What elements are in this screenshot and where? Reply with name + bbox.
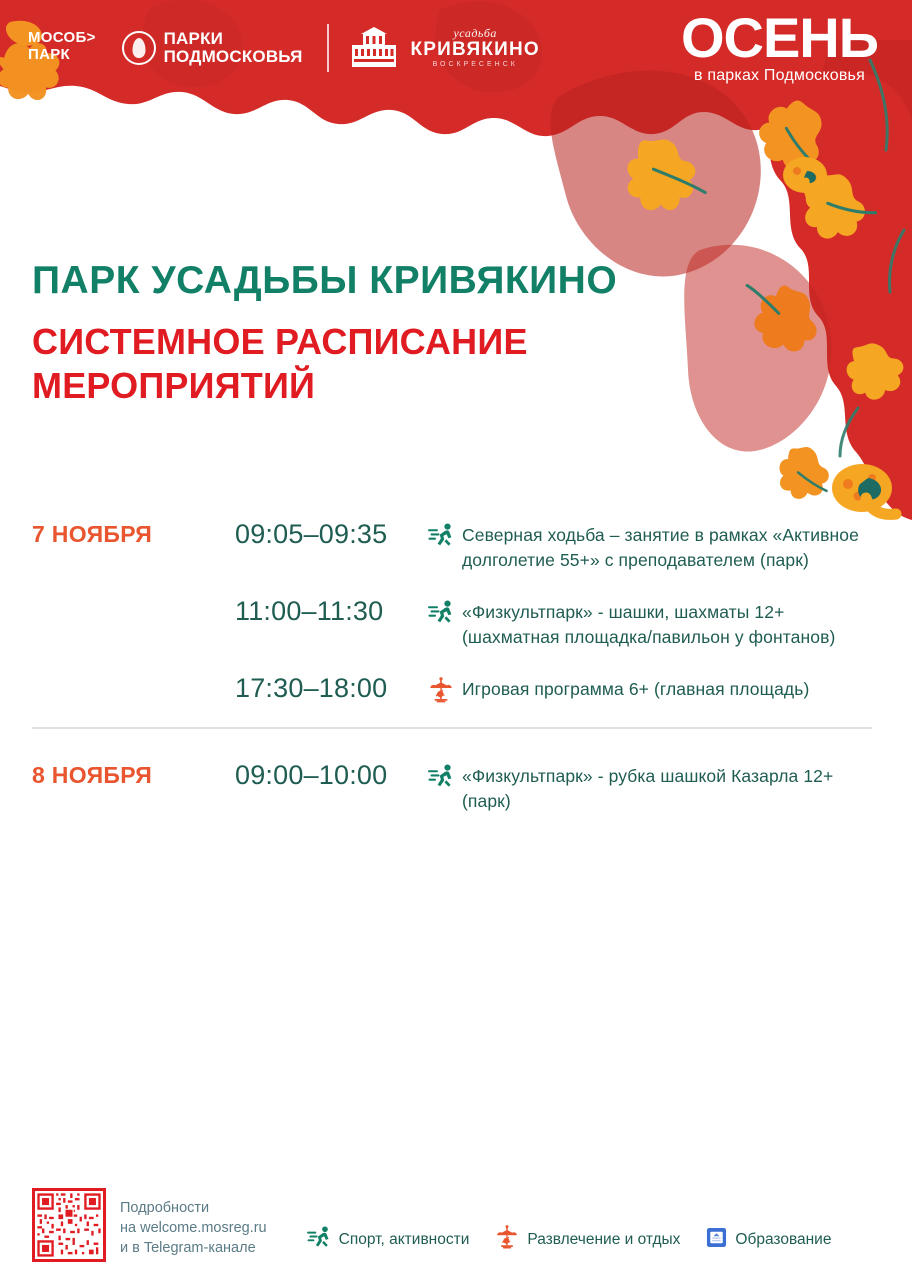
- osen-word-label: ОСЕНЬ: [681, 8, 878, 68]
- qr-code[interactable]: [32, 1188, 106, 1262]
- poster-header: МОСОБ> ПАРК ПАРКИ ПОДМОСКОВЬЯ: [0, 0, 912, 96]
- poster-footer: Подробности на welcome.mosreg.ru и в Tel…: [32, 1188, 882, 1262]
- day-divider: [32, 727, 872, 729]
- day-date-label: 8 НОЯБРЯ: [32, 761, 152, 789]
- manor-house-icon: [349, 27, 399, 69]
- legend-label: Образование: [735, 1230, 831, 1250]
- carousel-icon: [495, 1225, 519, 1254]
- day-block: 7 НОЯБРЯ 09:05–09:35 Севе: [32, 518, 882, 705]
- krivyakino-city-label: ВОСКРЕСЕНСК: [411, 60, 540, 70]
- park-name-title: ПАРК УСАДЬБЫ КРИВЯКИНО: [32, 258, 652, 304]
- poster-titles: ПАРК УСАДЬБЫ КРИВЯКИНО СИСТЕМНОЕ РАСПИСА…: [32, 258, 652, 408]
- logo-krivyakino: усадьба КРИВЯКИНО ВОСКРЕСЕНСК: [349, 27, 540, 70]
- running-icon: [420, 595, 462, 624]
- logo-parks-podmoskovya: ПАРКИ ПОДМОСКОВЬЯ: [122, 30, 303, 66]
- logo-mosoblpark: МОСОБ> ПАРК: [28, 29, 96, 63]
- logo-osen: ОСЕНЬ в парках Подмосковья: [681, 8, 878, 86]
- day-date-label: 7 НОЯБРЯ: [32, 520, 152, 548]
- event-row: 17:30–18:00: [235, 672, 882, 705]
- event-time: 09:05–09:35: [235, 518, 420, 551]
- event-row: 11:00–11:30 «Физкультпарк» - шашки, шахм…: [235, 595, 882, 650]
- event-time: 17:30–18:00: [235, 672, 420, 705]
- event-time: 11:00–11:30: [235, 595, 420, 628]
- event-description: Игровая программа 6+ (главная площадь): [462, 672, 882, 702]
- event-time: 09:00–10:00: [235, 759, 420, 792]
- parks-emblem-icon: [122, 31, 156, 65]
- carousel-icon: [420, 672, 462, 703]
- krivyakino-name-label: КРИВЯКИНО: [411, 39, 540, 60]
- day-events: 09:05–09:35 Северная ходьба – занятие в …: [235, 518, 882, 705]
- legend-label: Развлечение и отдых: [527, 1230, 680, 1250]
- event-description: «Физкультпарк» - шашки, шахматы 12+ (шах…: [462, 595, 882, 650]
- details-text: Подробности на welcome.mosreg.ru и в Tel…: [120, 1198, 267, 1262]
- running-icon: [420, 759, 462, 788]
- krivyakino-script-label: усадьба: [411, 27, 540, 39]
- running-icon: [420, 518, 462, 547]
- legend: Спорт, активности: [307, 1225, 832, 1262]
- header-divider: [327, 24, 329, 72]
- event-row: 09:00–10:00 «Физкультпарк» - рубка шашко…: [235, 759, 882, 814]
- schedule-list: 7 НОЯБРЯ 09:05–09:35 Севе: [32, 518, 882, 836]
- day-events: 09:00–10:00 «Физкультпарк» - рубка шашко…: [235, 759, 882, 814]
- running-icon: [307, 1226, 331, 1253]
- schedule-title: СИСТЕМНОЕ РАСПИСАНИЕ МЕРОПРИЯТИЙ: [32, 320, 652, 408]
- legend-item-education: Образование: [706, 1227, 831, 1253]
- legend-item-entertainment: Развлечение и отдых: [495, 1225, 680, 1254]
- event-description: Северная ходьба – занятие в рамках «Акти…: [462, 518, 882, 573]
- legend-label: Спорт, активности: [339, 1230, 470, 1250]
- logo-parks-label: ПАРКИ ПОДМОСКОВЬЯ: [164, 30, 303, 66]
- event-row: 09:05–09:35 Северная ходьба – занятие в …: [235, 518, 882, 573]
- event-description: «Физкультпарк» - рубка шашкой Казарла 12…: [462, 759, 882, 814]
- book-icon: [706, 1227, 727, 1253]
- osen-subtitle-label: в парках Подмосковья: [681, 66, 878, 86]
- day-block: 8 НОЯБРЯ 09:00–10:00 «Физ: [32, 759, 882, 814]
- poster-root: МОСОБ> ПАРК ПАРКИ ПОДМОСКОВЬЯ: [0, 0, 912, 1280]
- legend-item-sport: Спорт, активности: [307, 1226, 470, 1253]
